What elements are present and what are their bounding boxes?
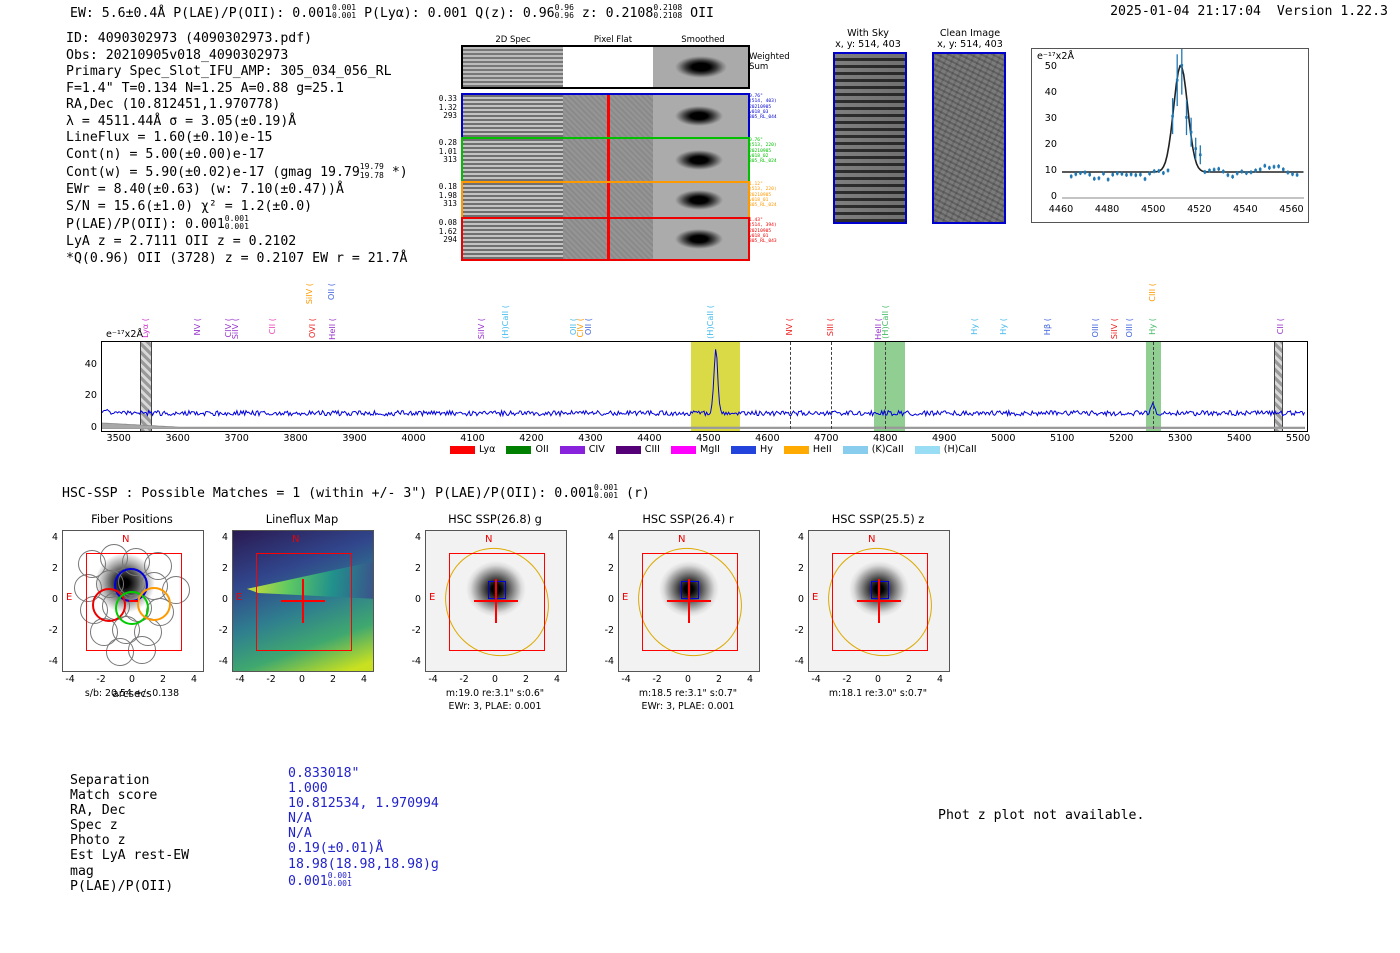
spectrum-species-label: NV ( xyxy=(193,318,201,336)
center-box xyxy=(681,581,699,599)
panel-xtick: -4 xyxy=(58,674,82,685)
match-table-value: N/A xyxy=(288,826,439,841)
match-table-label: P(LAE)/P(OII) xyxy=(70,879,189,894)
legend-swatch xyxy=(506,446,531,454)
spectrum-xtick: 3800 xyxy=(276,433,316,444)
meta-line: 305_RL_043 xyxy=(749,239,809,244)
spectrum-xtick: 4600 xyxy=(747,433,787,444)
match-table-label: Est LyA rest-EW xyxy=(70,848,189,863)
info-cont-w-text: Cont(w) = 5.90(±0.02)e-17 (gmag 19.79 xyxy=(66,166,360,181)
panel-xtick: 4 xyxy=(545,674,569,685)
spectrum-species-label: OIII ( xyxy=(1125,318,1133,338)
panel-xtick: 4 xyxy=(182,674,206,685)
cell-2dspec xyxy=(463,95,563,137)
legend-label: Lyα xyxy=(479,444,495,455)
cutout-title-with-sky: With Sky x, y: 514, 403 xyxy=(818,28,918,51)
cell-2dspec xyxy=(463,183,563,217)
spectrum-species-label: (H)CaII ( xyxy=(706,305,714,339)
compass-east: E xyxy=(429,592,435,603)
info-qline: *Q(0.96) OII (3728) z = 0.2107 EW r = 21… xyxy=(66,251,408,268)
panel-ytick: -2 xyxy=(788,625,804,636)
summary-ew-plae: EW: 5.6±0.4Å P(LAE)/P(OII): 0.001 xyxy=(70,6,332,21)
montage-row-meta: 0.76"(513, 220)20210905v018_02305_RL_024 xyxy=(749,138,809,165)
cutout-with-sky-image xyxy=(833,52,907,224)
spectrum-species-label: Hy ( xyxy=(970,318,978,335)
legend-label: OII xyxy=(535,444,548,455)
spectrum-xtick: 4100 xyxy=(453,433,493,444)
legend-item: Hy xyxy=(731,444,773,455)
panel-ytick: -2 xyxy=(598,625,614,636)
panel-caption: m:18.1 re:3.0" s:0.7" xyxy=(782,688,974,700)
zoom-ytick: 40 xyxy=(1039,87,1057,98)
panel-caption: m:19.0 re:3.1" s:0.6" xyxy=(399,688,591,700)
spectrum-xtick: 5400 xyxy=(1219,433,1259,444)
legend-label: MgII xyxy=(700,444,720,455)
spectrum-species-label: CIII ( xyxy=(1148,283,1156,302)
panel-xtick: 2 xyxy=(321,674,345,685)
panel-ytick: -4 xyxy=(788,656,804,667)
timestamp-version: 2025-01-04 21:17:04 Version 1.22.3 xyxy=(1110,4,1388,19)
zoom-xtick: 4560 xyxy=(1274,204,1308,215)
panel-xtick: 0 xyxy=(120,674,144,685)
panel-xtick: -2 xyxy=(645,674,669,685)
spectrum-annotation: e⁻¹⁷x2Å xyxy=(106,329,143,340)
meta-line: 305_RL_024 xyxy=(749,203,809,208)
panel-ytick: -4 xyxy=(42,656,58,667)
match-plae-superscript: 0.001 0.001 xyxy=(328,872,352,888)
pixelflat-red-marker xyxy=(607,183,610,217)
info-id: ID: 4090302973 (4090302973.pdf) xyxy=(66,31,408,48)
cell-pixelflat xyxy=(563,183,653,217)
cell-2dspec-sum xyxy=(463,47,563,87)
spectrum-species-label: SiIV ( xyxy=(305,283,313,304)
legend-item: (H)CaII xyxy=(915,444,977,455)
panel-ytick: -2 xyxy=(42,625,58,636)
spectrum-xtick: 5300 xyxy=(1160,433,1200,444)
panel-xtick: -4 xyxy=(421,674,445,685)
spectrum-xtick: 3500 xyxy=(99,433,139,444)
spectrum-species-label: CIV ( xyxy=(224,318,232,338)
match-table-value: 10.812534, 1.970994 xyxy=(288,796,439,811)
image-panel-title: Fiber Positions xyxy=(42,512,222,526)
zoom-xtick: 4500 xyxy=(1136,204,1170,215)
center-box xyxy=(488,581,506,599)
panel-xtick: -4 xyxy=(228,674,252,685)
spectrum-species-label: CII ( xyxy=(268,318,276,334)
panel-xtick: -2 xyxy=(835,674,859,685)
montage-title-pixelflat: Pixel Flat xyxy=(578,35,648,45)
pixelflat-red-marker xyxy=(607,139,610,181)
info-lambda-sigma: λ = 4511.44Å σ = 3.05(±0.19)Å xyxy=(66,114,408,131)
hsc-headline-filter: (r) xyxy=(626,486,650,501)
crosshair-v xyxy=(302,579,304,623)
montage-weighted-sum-row xyxy=(461,45,750,89)
spectrum-species-label: (H)CaII ( xyxy=(501,305,509,339)
cutout-title-clean: Clean Image x, y: 514, 403 xyxy=(915,28,1025,51)
spectrum-ytick: 40 xyxy=(75,359,97,370)
spectrum-species-label: Hβ ( xyxy=(1043,318,1051,335)
panel-ytick: 2 xyxy=(42,563,58,574)
image-panel-title: HSC SSP(25.5) z xyxy=(788,512,968,526)
zoom-xtick: 4480 xyxy=(1090,204,1124,215)
montage-title-smoothed: Smoothed xyxy=(668,35,738,45)
match-table-value: N/A xyxy=(288,811,439,826)
spectrum-species-label: (H)CaII ( xyxy=(881,305,889,339)
compass-north: N xyxy=(868,534,875,545)
match-table-label: Spec z xyxy=(70,818,189,833)
zoom-ytick: 50 xyxy=(1039,61,1057,72)
panel-xtick: -2 xyxy=(259,674,283,685)
spectrum-species-label: SiIV ( xyxy=(477,318,485,339)
fov-box xyxy=(449,553,545,651)
panel-ytick: 4 xyxy=(405,532,421,543)
panel-caption: m:18.5 re:3.1" s:0.7" xyxy=(592,688,784,700)
info-redshifts: LyA z = 2.7111 OII z = 0.2102 xyxy=(66,234,408,251)
panel-xtick: 4 xyxy=(738,674,762,685)
match-table-value: 1.000 xyxy=(288,781,439,796)
weighted-sum-label: Weighted Sum xyxy=(749,52,790,72)
image-panel-frame[interactable] xyxy=(232,530,374,672)
panel-xtick: 2 xyxy=(151,674,175,685)
fov-box xyxy=(86,553,182,651)
info-cont-w: Cont(w) = 5.90(±0.02)e-17 (gmag 19.7919.… xyxy=(66,163,408,182)
z-superscript: 0.2108 0.2108 xyxy=(653,4,682,20)
cutout-clean-coords: x, y: 514, 403 xyxy=(915,39,1025,50)
cell-smoothed-sum xyxy=(653,47,748,87)
legend-label: CIV xyxy=(589,444,605,455)
legend-item: CIV xyxy=(560,444,605,455)
spectrum-legend: LyαOIICIVCIIIMgIIHyHeII(K)CaII(H)CaII xyxy=(450,444,977,455)
panel-ytick: 0 xyxy=(42,594,58,605)
crosshair-v xyxy=(495,579,497,623)
spectrum-xtick: 5200 xyxy=(1101,433,1141,444)
spectrum-species-label: SIII ( xyxy=(826,318,834,336)
spectrum-line-marker xyxy=(831,342,832,429)
legend-swatch xyxy=(731,446,756,454)
compass-east: E xyxy=(622,592,628,603)
cutout-clean-image xyxy=(932,52,1006,224)
spectrum-species-label: OIII ( xyxy=(1091,318,1099,338)
info-cont-w-tail: *) xyxy=(392,166,408,181)
panel-caption: s/b: 20.54 +/- 0.138 xyxy=(36,688,228,700)
cell-pixelflat xyxy=(563,139,653,181)
info-radec: RA,Dec (10.812451,1.970778) xyxy=(66,97,408,114)
montage-row xyxy=(461,137,750,183)
info-primary-spec: Primary Spec_Slot_IFU_AMP: 305_034_056_R… xyxy=(66,64,408,81)
image-panel-title: HSC SSP(26.4) r xyxy=(598,512,778,526)
spectrum-species-label: SiIV ( xyxy=(1110,318,1118,339)
panel-xtick: 2 xyxy=(514,674,538,685)
compass-east: E xyxy=(66,592,72,603)
center-crosshair xyxy=(129,600,138,602)
panel-xtick: 0 xyxy=(866,674,890,685)
panel-xtick: 2 xyxy=(707,674,731,685)
legend-item: OII xyxy=(506,444,548,455)
spectrum-xtick: 5000 xyxy=(983,433,1023,444)
panel-ytick: -4 xyxy=(405,656,421,667)
cutout-withsky-title: With Sky xyxy=(818,28,918,39)
image-panel-frame[interactable] xyxy=(808,530,950,672)
match-table-label: mag xyxy=(70,864,189,879)
panel-xtick: -4 xyxy=(614,674,638,685)
photz-note: Phot z plot not available. xyxy=(938,808,1144,823)
stat-value: 293 xyxy=(425,112,457,121)
zoom-xtick: 4460 xyxy=(1044,204,1078,215)
compass-east: E xyxy=(812,592,818,603)
legend-swatch xyxy=(843,446,868,454)
qz-superscript: 0.96 0.96 xyxy=(555,4,574,20)
spectrum-species-label: Hy ( xyxy=(999,318,1007,335)
legend-label: (K)CaII xyxy=(872,444,904,455)
legend-label: (H)CaII xyxy=(944,444,977,455)
spectrum-xtick: 5100 xyxy=(1042,433,1082,444)
spectrum-xtick: 4900 xyxy=(924,433,964,444)
info-lineflux: LineFlux = 1.60(±0.10)e-15 xyxy=(66,130,408,147)
spectrum-line-marker xyxy=(885,342,886,429)
panel-xtick: -2 xyxy=(452,674,476,685)
image-panel-title: Lineflux Map xyxy=(212,512,392,526)
cell-pixelflat xyxy=(563,219,653,259)
cell-smoothed xyxy=(653,95,748,137)
timestamp: 2025-01-04 21:17:04 xyxy=(1110,4,1261,19)
legend-swatch xyxy=(671,446,696,454)
summary-classification: OII xyxy=(690,6,714,21)
plae-superscript: 0.001 0.001 xyxy=(332,4,356,20)
match-table-label: Separation xyxy=(70,773,189,788)
hsc-ssp-headline: HSC-SSP : Possible Matches = 1 (within +… xyxy=(62,484,650,501)
legend-item: CIII xyxy=(616,444,660,455)
compass-north: N xyxy=(678,534,685,545)
image-panel-frame[interactable] xyxy=(618,530,760,672)
montage-row-stats: 0.081.62294 xyxy=(425,219,457,245)
spectrum-ytick: 20 xyxy=(75,390,97,401)
fov-box xyxy=(642,553,738,651)
zoom-ytick: 0 xyxy=(1039,191,1057,202)
panel-ytick: 2 xyxy=(598,563,614,574)
info-plae-superscript: 0.001 0.001 xyxy=(225,215,249,231)
cutout-withsky-coords: x, y: 514, 403 xyxy=(818,39,918,50)
spectrum-species-label: OII ( xyxy=(327,283,335,300)
cell-smoothed xyxy=(653,219,748,259)
meta-line: 305_RL_024 xyxy=(749,159,809,164)
spectrum-xtick: 3700 xyxy=(217,433,257,444)
summary-header: EW: 5.6±0.4Å P(LAE)/P(OII): 0.0010.001 0… xyxy=(70,4,714,21)
pixelflat-red-marker xyxy=(607,95,610,137)
panel-ytick: 4 xyxy=(42,532,58,543)
panel-ytick: -4 xyxy=(598,656,614,667)
spectrum-xtick: 4500 xyxy=(688,433,728,444)
match-table-label: Match score xyxy=(70,788,189,803)
info-obs: Obs: 20210905v018_4090302973 xyxy=(66,48,408,65)
panel-ytick: -4 xyxy=(212,656,228,667)
spectrum-species-label: OVI ( xyxy=(308,318,316,338)
zoom-xtick: 4540 xyxy=(1228,204,1262,215)
zoom-ytick: 10 xyxy=(1039,165,1057,176)
legend-label: CIII xyxy=(645,444,660,455)
panel-ytick: 2 xyxy=(212,563,228,574)
montage-row xyxy=(461,93,750,139)
panel-ytick: 0 xyxy=(788,594,804,605)
spectrum-xtick: 4000 xyxy=(394,433,434,444)
crosshair-v xyxy=(878,579,880,623)
summary-plya-qz: P(Lyα): 0.001 Q(z): 0.96 xyxy=(364,6,555,21)
legend-item: Lyα xyxy=(450,444,495,455)
panel-caption-secondary: EWr: 3, PLAE: 0.001 xyxy=(592,701,784,713)
panel-xtick: -2 xyxy=(89,674,113,685)
legend-swatch xyxy=(784,446,809,454)
panel-xtick: 0 xyxy=(290,674,314,685)
image-panel-frame[interactable] xyxy=(62,530,204,672)
compass-east: E xyxy=(236,592,242,603)
montage-row-stats: 0.331.32293 xyxy=(425,95,457,121)
panel-ytick: -2 xyxy=(212,625,228,636)
montage-row-stats: 0.181.98313 xyxy=(425,183,457,209)
spectrum-species-label: OII ( xyxy=(584,318,592,335)
cell-pixelflat xyxy=(563,95,653,137)
legend-label: HeII xyxy=(813,444,832,455)
cutout-clean-title: Clean Image xyxy=(915,28,1025,39)
legend-swatch xyxy=(450,446,475,454)
compass-north: N xyxy=(485,534,492,545)
zoom-plot-svg xyxy=(1032,49,1308,222)
legend-item: HeII xyxy=(784,444,832,455)
spectrum-species-label: Hy ( xyxy=(1148,318,1156,335)
panel-ytick: 0 xyxy=(405,594,421,605)
panel-ytick: -2 xyxy=(405,625,421,636)
spectrum-line-marker xyxy=(1153,342,1154,429)
cell-smoothed xyxy=(653,183,748,217)
panel-ytick: 0 xyxy=(598,594,614,605)
info-plae: P(LAE)/P(OII): 0.0010.001 0.001 xyxy=(66,215,408,234)
montage-row-meta: 1.12"(513, 220)20210905v018_01305_RL_024 xyxy=(749,182,809,209)
meta-line: 305_RL_044 xyxy=(749,115,809,120)
spectrum-line-marker xyxy=(790,342,791,429)
image-panel-frame[interactable] xyxy=(425,530,567,672)
spectrum-species-label: CII ( xyxy=(1276,318,1284,334)
full-spectrum-panel: e⁻¹⁷x2Å xyxy=(101,341,1308,432)
panel-xtick: 4 xyxy=(928,674,952,685)
montage-row xyxy=(461,217,750,261)
spectrum-xtick: 4300 xyxy=(570,433,610,444)
spectrum-xtick: 3600 xyxy=(158,433,198,444)
fov-box xyxy=(832,553,928,651)
spectrum-xtick: 4400 xyxy=(629,433,669,444)
montage-row xyxy=(461,181,750,219)
info-plae-text: P(LAE)/P(OII): 0.001 xyxy=(66,217,225,232)
compass-north: N xyxy=(292,534,299,545)
panel-ytick: 4 xyxy=(598,532,614,543)
montage-row-stats: 0.281.01313 xyxy=(425,139,457,165)
center-box xyxy=(871,581,889,599)
panel-ytick: 4 xyxy=(212,532,228,543)
panel-ytick: 0 xyxy=(212,594,228,605)
summary-z: z: 0.2108 xyxy=(582,6,653,21)
compass-north: N xyxy=(122,534,129,545)
panel-ytick: 2 xyxy=(405,563,421,574)
panel-xtick: 2 xyxy=(897,674,921,685)
version-label: Version 1.22.3 xyxy=(1277,4,1388,19)
cell-2dspec xyxy=(463,139,563,181)
stat-value: 313 xyxy=(425,156,457,165)
emission-line-zoom-plot: e⁻¹⁷x2Å xyxy=(1031,48,1309,223)
legend-item: MgII xyxy=(671,444,720,455)
montage-row-meta: 0.76"(514, 403)20210905v018_03305_RL_044 xyxy=(749,94,809,121)
panel-xtick: 0 xyxy=(676,674,700,685)
spectrum-xtick: 5500 xyxy=(1278,433,1318,444)
montage-row-meta: 1.43"(514, 394)20210905v018_01305_RL_043 xyxy=(749,218,809,245)
match-table-value: 18.98(18.98,18.98)g xyxy=(288,857,439,872)
cell-pixelflat-sum xyxy=(563,47,653,87)
pixelflat-red-marker xyxy=(607,219,610,259)
info-cont-n: Cont(n) = 5.00(±0.00)e-17 xyxy=(66,147,408,164)
cell-2dspec xyxy=(463,219,563,259)
spectrum-xtick: 4200 xyxy=(511,433,551,444)
legend-swatch xyxy=(915,446,940,454)
zoom-xtick: 4520 xyxy=(1182,204,1216,215)
match-table-value: 0.0010.001 0.001 xyxy=(288,872,439,889)
match-table-values: 0.833018"1.00010.812534, 1.970994N/AN/A0… xyxy=(288,766,439,889)
hsc-plae-superscript: 0.001 0.001 xyxy=(594,484,618,500)
spectrum-xtick: 4700 xyxy=(806,433,846,444)
image-panel-title: HSC SSP(26.8) g xyxy=(405,512,585,526)
panel-xtick: -4 xyxy=(804,674,828,685)
stat-value: 294 xyxy=(425,236,457,245)
legend-swatch xyxy=(560,446,585,454)
panel-xtick: 0 xyxy=(483,674,507,685)
zoom-ytick: 30 xyxy=(1039,113,1057,124)
stat-value: 313 xyxy=(425,200,457,209)
panel-ytick: 2 xyxy=(788,563,804,574)
panel-xtick: 4 xyxy=(352,674,376,685)
spectrum-ytick: 0 xyxy=(75,422,97,433)
spectrum-xtick: 4800 xyxy=(865,433,905,444)
legend-swatch xyxy=(616,446,641,454)
match-table-value: 0.833018" xyxy=(288,766,439,781)
info-seeing: F=1.4" T=0.134 N=1.25 A=0.88 g=25.1 xyxy=(66,81,408,98)
zoom-ytick: 20 xyxy=(1039,139,1057,150)
info-sn-chi2: S/N = 15.6(±1.0) χ² = 1.2(±0.0) xyxy=(66,199,408,216)
spectrum-species-label: HeII ( xyxy=(328,318,336,340)
full-spectrum-svg xyxy=(102,342,1305,429)
gmag-superscript: 19.79 19.78 xyxy=(360,163,384,179)
montage-title-2dspec: 2D Spec xyxy=(478,35,548,45)
legend-label: Hy xyxy=(760,444,773,455)
match-table-label: RA, Dec xyxy=(70,803,189,818)
crosshair-v xyxy=(688,579,690,623)
panel-ytick: 4 xyxy=(788,532,804,543)
spectrum-species-label: NV ( xyxy=(785,318,793,336)
match-table-labels: SeparationMatch scoreRA, DecSpec zPhoto … xyxy=(70,773,189,894)
source-info-block: ID: 4090302973 (4090302973.pdf) Obs: 202… xyxy=(66,31,408,267)
cell-smoothed xyxy=(653,139,748,181)
legend-item: (K)CaII xyxy=(843,444,904,455)
match-table-value: 0.19(±0.01)Å xyxy=(288,841,439,856)
panel-caption-secondary: EWr: 3, PLAE: 0.001 xyxy=(399,701,591,713)
hsc-headline-text: HSC-SSP : Possible Matches = 1 (within +… xyxy=(62,486,594,501)
match-table-label: Photo z xyxy=(70,833,189,848)
info-ewr: EWr = 8.40(±0.63) (w: 7.10(±0.47))Å xyxy=(66,182,408,199)
spectrum-xtick: 3900 xyxy=(335,433,375,444)
fov-box xyxy=(256,553,352,651)
